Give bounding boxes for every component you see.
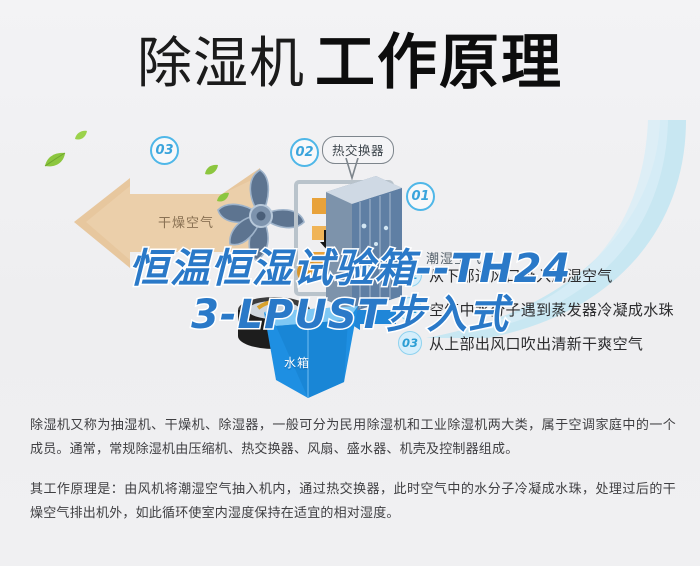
diagram-badge-03: 03 bbox=[150, 136, 179, 165]
paragraph-2: 其工作原理是：由风机将潮湿空气抽入机内，通过热交换器，此时空气中的水分子冷凝成水… bbox=[30, 478, 676, 526]
leaf-icon bbox=[74, 130, 88, 141]
step-number-badge: 01 bbox=[398, 263, 422, 287]
dry-air-label: 干燥空气 bbox=[158, 212, 214, 231]
diagram-badge-02: 02 bbox=[290, 138, 319, 167]
step-number-badge: 02 bbox=[398, 297, 422, 321]
list-item: 02 空气中水分子遇到蒸发器冷凝成水珠 bbox=[398, 292, 698, 326]
leaf-icon bbox=[44, 152, 66, 168]
page-title-part2: 工作原理 bbox=[315, 33, 563, 93]
diagram-badge-01: 01 bbox=[406, 182, 435, 211]
process-step-list: 01 从下部进风口吸入潮湿空气 02 空气中水分子遇到蒸发器冷凝成水珠 03 从… bbox=[398, 258, 698, 360]
step-text: 空气中水分子遇到蒸发器冷凝成水珠 bbox=[429, 299, 674, 320]
page-title: 除湿机 工作原理 bbox=[0, 24, 700, 102]
callout-pointer-icon bbox=[344, 158, 360, 180]
paragraph-1: 除湿机又称为抽湿机、干燥机、除湿器，一般可分为民用除湿机和工业除湿机两大类，属于… bbox=[30, 414, 676, 462]
infographic-page: 除湿机 工作原理 干燥空气 bbox=[0, 0, 700, 566]
evaporator-icon bbox=[318, 170, 404, 312]
list-item: 03 从上部出风口吹出清新干爽空气 bbox=[398, 326, 698, 360]
list-item: 01 从下部进风口吸入潮湿空气 bbox=[398, 258, 698, 292]
step-number-badge: 03 bbox=[398, 331, 422, 355]
water-tank-label: 水箱 bbox=[284, 354, 310, 371]
water-tank-icon bbox=[256, 304, 366, 400]
step-text: 从下部进风口吸入潮湿空气 bbox=[429, 265, 613, 286]
page-title-part1: 除湿机 bbox=[137, 36, 305, 91]
step-text: 从上部出风口吹出清新干爽空气 bbox=[429, 333, 643, 354]
body-copy: 除湿机又称为抽湿机、干燥机、除湿器，一般可分为民用除湿机和工业除湿机两大类，属于… bbox=[30, 414, 676, 526]
